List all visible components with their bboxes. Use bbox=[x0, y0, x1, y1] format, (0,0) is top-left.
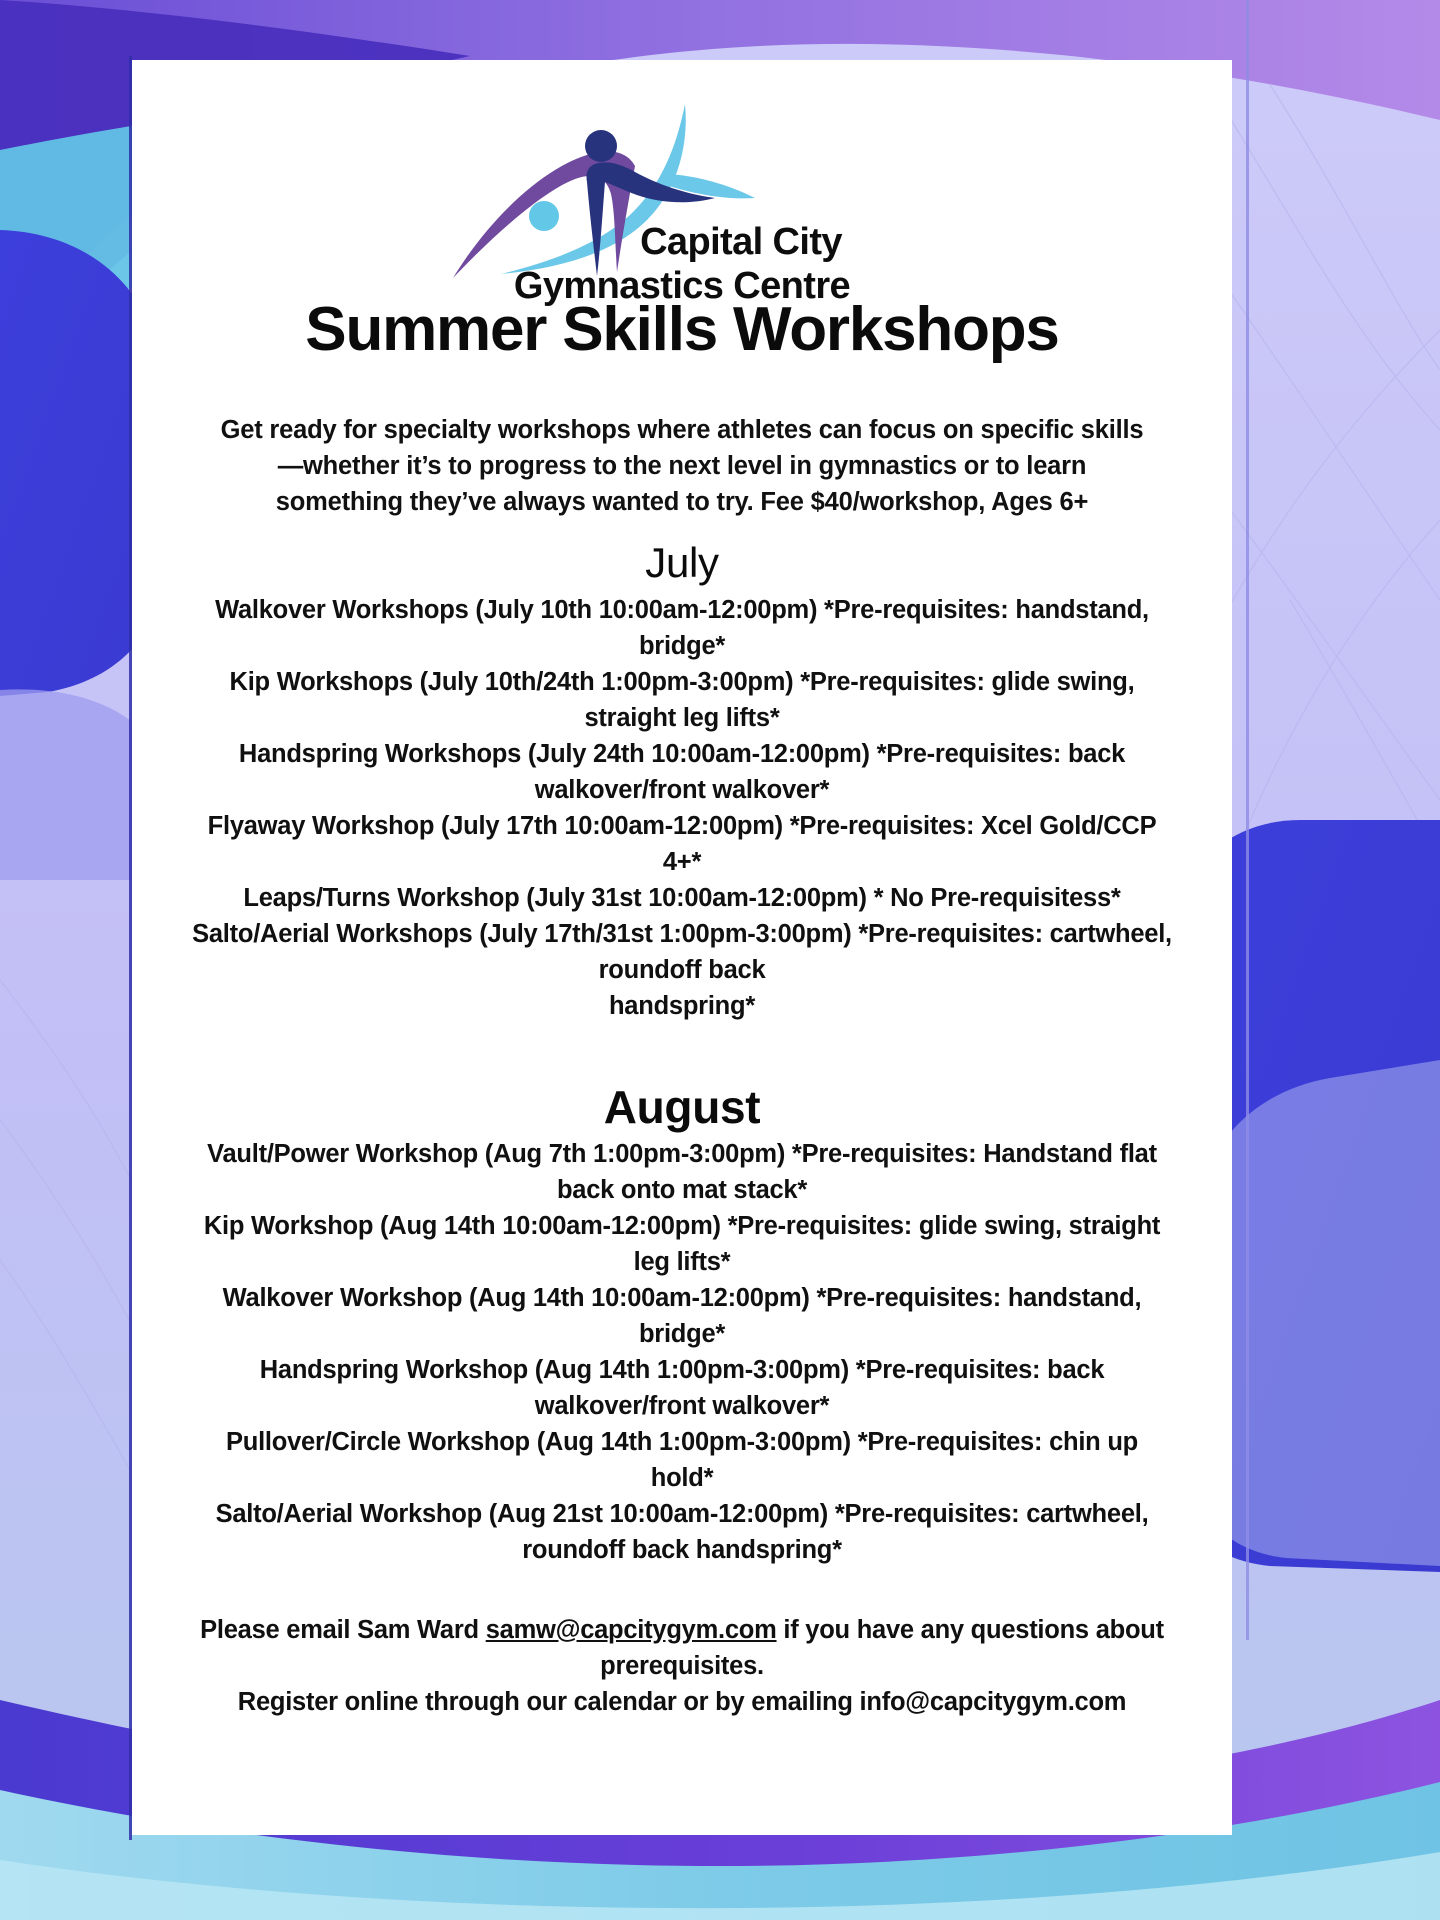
workshop-item: Vault/Power Workshop (Aug 7th 1:00pm-3:0… bbox=[192, 1136, 1172, 1208]
workshop-item: Walkover Workshops (July 10th 10:00am-12… bbox=[192, 592, 1172, 664]
intro-paragraph: Get ready for specialty workshops where … bbox=[192, 412, 1172, 520]
workshop-item: Flyaway Workshop (July 17th 10:00am-12:0… bbox=[192, 808, 1172, 880]
workshop-item: Handspring Workshop (Aug 14th 1:00pm-3:0… bbox=[192, 1352, 1172, 1424]
footer-contact: Please email Sam Ward samw@capcitygym.co… bbox=[192, 1612, 1172, 1720]
register-line: Register online through our calendar or … bbox=[192, 1684, 1172, 1720]
right-lavender-overlay bbox=[1196, 1060, 1440, 1566]
paper-right-rule bbox=[1246, 0, 1249, 1640]
workshop-item: Salto/Aerial Workshops (July 17th/31st 1… bbox=[192, 916, 1172, 988]
flyer-paper: Capital City Gymnastics Centre Summer Sk… bbox=[132, 60, 1232, 1835]
logo-line-1: Capital City bbox=[192, 220, 1172, 264]
contact-prefix: Please email Sam Ward bbox=[200, 1616, 486, 1644]
workshop-item: Pullover/Circle Workshop (Aug 14th 1:00p… bbox=[192, 1424, 1172, 1496]
logo-block: Capital City Gymnastics Centre bbox=[192, 88, 1172, 300]
section-spacer bbox=[192, 1024, 1172, 1080]
workshop-item: Kip Workshop (Aug 14th 10:00am-12:00pm) … bbox=[192, 1208, 1172, 1280]
logo-text: Capital City Gymnastics Centre bbox=[192, 220, 1172, 308]
july-workshop-list: Walkover Workshops (July 10th 10:00am-12… bbox=[192, 592, 1172, 1024]
workshop-item: Kip Workshops (July 10th/24th 1:00pm-3:0… bbox=[192, 664, 1172, 736]
month-heading-july: July bbox=[192, 536, 1172, 590]
august-workshop-list: Vault/Power Workshop (Aug 7th 1:00pm-3:0… bbox=[192, 1136, 1172, 1568]
month-heading-august: August bbox=[192, 1080, 1172, 1134]
workshop-item: Leaps/Turns Workshop (July 31st 10:00am-… bbox=[192, 880, 1172, 916]
workshop-item: handspring* bbox=[192, 988, 1172, 1024]
workshop-item: Handspring Workshops (July 24th 10:00am-… bbox=[192, 736, 1172, 808]
workshop-item: Salto/Aerial Workshop (Aug 21st 10:00am-… bbox=[192, 1496, 1172, 1568]
email-link[interactable]: samw@capcitygym.com bbox=[486, 1616, 777, 1644]
workshop-item: Walkover Workshop (Aug 14th 10:00am-12:0… bbox=[192, 1280, 1172, 1352]
contact-line: Please email Sam Ward samw@capcitygym.co… bbox=[192, 1612, 1172, 1684]
logo-line-2: Gymnastics Centre bbox=[192, 264, 1172, 308]
